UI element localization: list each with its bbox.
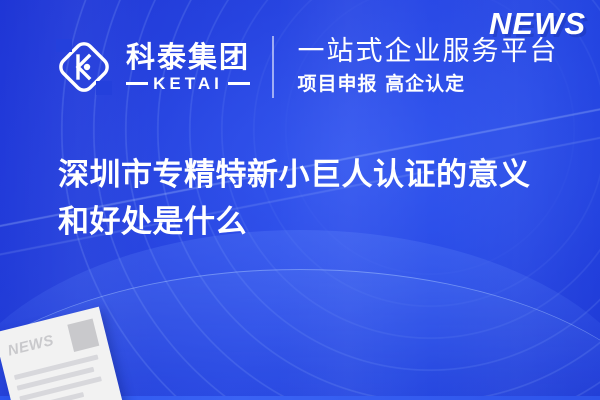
article-headline: 深圳市专精特新小巨人认证的意义和好处是什么 xyxy=(58,152,558,245)
slogan-block: 一站式企业服务平台 项目申报 高企认定 xyxy=(298,36,559,98)
newspaper-masthead: NEWS xyxy=(6,333,55,359)
brand-name-en-row: KETAI xyxy=(126,75,250,92)
banner-header: 科泰集团 KETAI 一站式企业服务平台 项目申报 高企认定 NEWS xyxy=(0,0,600,134)
brand-logo[interactable]: 科泰集团 KETAI xyxy=(56,39,250,95)
brand-rule-left xyxy=(126,82,148,85)
brand-name-cn: 科泰集团 xyxy=(126,42,250,72)
news-banner: 科泰集团 KETAI 一站式企业服务平台 项目申报 高企认定 NEWS 深圳市专… xyxy=(0,0,600,400)
brand-name-en: KETAI xyxy=(153,75,223,92)
news-badge-label: NEWS xyxy=(489,6,586,42)
ketai-kp-diamond-logo-icon xyxy=(56,39,112,95)
slogan-sub-text: 项目申报 高企认定 xyxy=(298,72,559,98)
brand-logo-text: 科泰集团 KETAI xyxy=(126,42,250,92)
header-divider xyxy=(272,36,274,98)
brand-rule-right xyxy=(228,82,250,85)
newspaper-image-placeholder xyxy=(67,318,99,351)
